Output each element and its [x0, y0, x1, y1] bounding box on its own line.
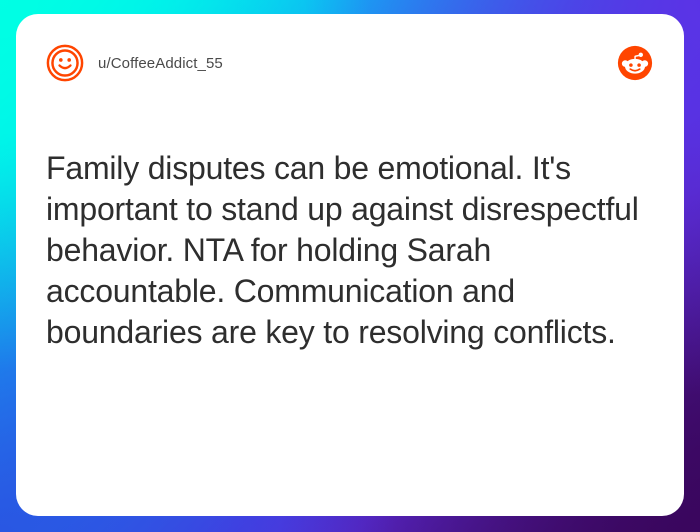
username-label: u/CoffeeAddict_55: [98, 55, 223, 72]
card-header: u/CoffeeAddict_55: [46, 40, 654, 86]
comment-body-text: Family disputes can be emotional. It's i…: [46, 148, 654, 353]
reddit-comment-card: u/CoffeeAddict_55: [16, 14, 684, 516]
reddit-snoo-logo-icon[interactable]: [616, 44, 654, 82]
gradient-background: u/CoffeeAddict_55: [0, 0, 700, 532]
smiley-face-avatar-icon[interactable]: [46, 44, 84, 82]
